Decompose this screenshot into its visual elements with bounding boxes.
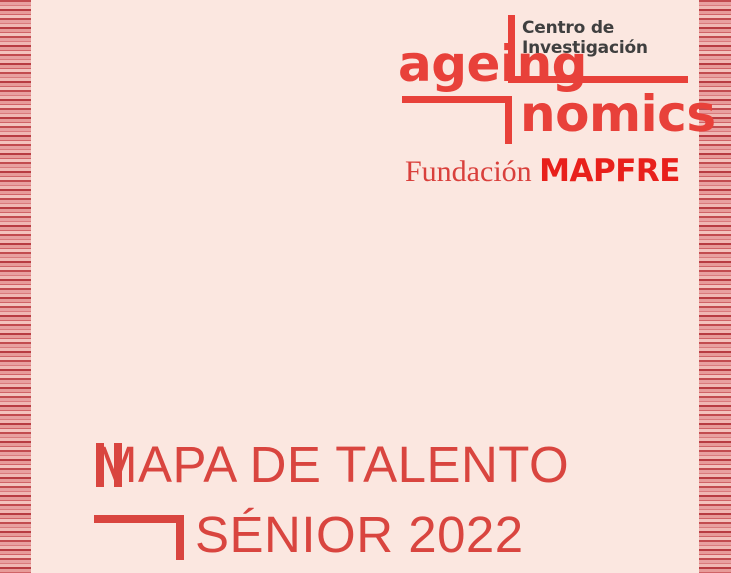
logo-hook-horizontal xyxy=(402,96,512,103)
logo-word-nomics: nomics xyxy=(520,89,716,139)
ageingnomics-logo: ageing Centro de Investigación nomics Fu… xyxy=(398,12,688,187)
centro-line-1: Centro de xyxy=(522,18,692,38)
centro-line-2: Investigación xyxy=(522,38,692,58)
fundacion-word: Fundación xyxy=(405,155,532,188)
mapfre-wordmark: MAPFRE xyxy=(539,153,680,189)
report-cover-page: ageing Centro de Investigación nomics Fu… xyxy=(0,0,731,573)
page-title-line-1: MAPA DE TALENTO xyxy=(95,439,569,490)
page-title-line-2: SÉNIOR 2022 xyxy=(195,509,524,560)
title-hook-vertical xyxy=(176,515,184,560)
decorative-stripe-band-left xyxy=(0,0,31,573)
logo-bracket-hook-icon xyxy=(402,96,512,144)
logo-hook-vertical xyxy=(505,96,512,144)
centro-investigacion-label: Centro de Investigación xyxy=(522,18,692,58)
title-hook-horizontal xyxy=(94,515,184,523)
logo-bracket-l-vertical xyxy=(508,15,515,83)
logo-bracket-l-horizontal xyxy=(508,76,688,83)
fundacion-mapfre-lockup: Fundación MAPFRE xyxy=(405,156,680,187)
title-bracket-hook-icon xyxy=(94,515,184,560)
